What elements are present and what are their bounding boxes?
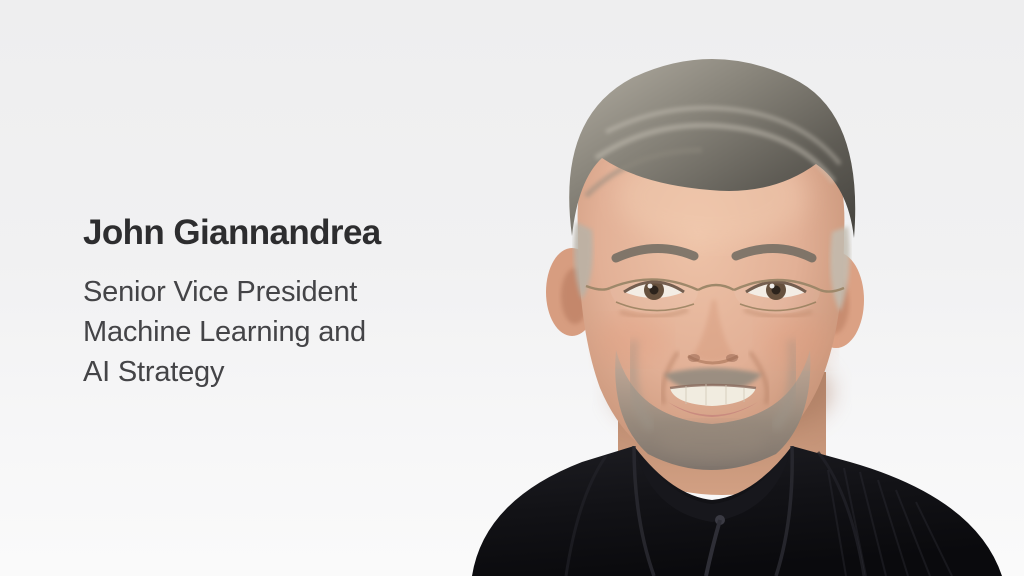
- nostril-right: [726, 354, 738, 362]
- cheek-left: [596, 316, 668, 364]
- portrait-illustration: [420, 0, 1024, 576]
- portrait-card: John Giannandrea Senior Vice President M…: [0, 0, 1024, 576]
- chin-shadow: [658, 422, 766, 462]
- cheek-right: [760, 318, 832, 366]
- portrait-photo: [420, 0, 1024, 576]
- nostril-left: [688, 354, 700, 362]
